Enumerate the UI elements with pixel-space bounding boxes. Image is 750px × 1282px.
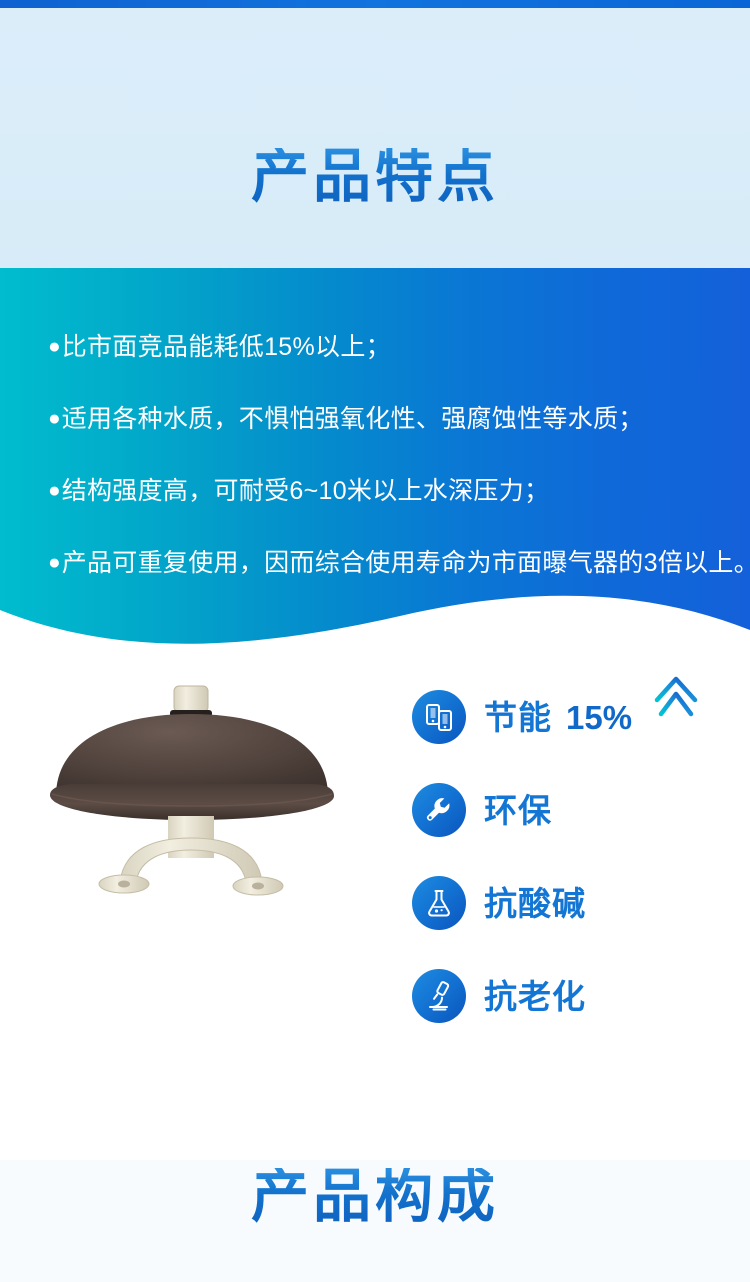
flask-icon xyxy=(412,876,466,930)
top-accent-bar xyxy=(0,0,750,8)
dome-aerator-illustration xyxy=(20,668,380,908)
feature-value-percent: 15% xyxy=(566,701,632,734)
bullet-text: 结构强度高，可耐受6~10米以上水深压力； xyxy=(62,476,550,506)
bullet-text: 适用各种水质，不惧怕强氧化性、强腐蚀性等水质； xyxy=(62,404,644,434)
feature-row-anti-aging[interactable]: 抗老化 xyxy=(412,967,742,1025)
feature-highlight-list: 节能 15% xyxy=(412,688,742,1060)
wrench-icon xyxy=(412,783,466,837)
bullet-dot-icon: ● xyxy=(48,404,61,434)
feature-label: 环保 xyxy=(484,794,552,827)
page-title: 产品特点 xyxy=(0,148,750,206)
feature-row-eco-friendly[interactable]: 环保 xyxy=(412,781,742,839)
feature-row-energy-saving[interactable]: 节能 15% xyxy=(412,688,742,746)
bullet-text: 比市面竞品能耗低15%以上； xyxy=(62,332,391,362)
product-feature-page: 产品特点 ● 比市面竞品能耗低15%以上； ● 适用各种水质，不惧怕强氧化性、强… xyxy=(0,0,750,1282)
list-item: ● 结构强度高，可耐受6~10米以上水深压力； xyxy=(48,476,718,506)
feature-label: 节能 xyxy=(484,701,552,734)
list-item: ● 比市面竞品能耗低15%以上； xyxy=(48,332,718,362)
wave-divider xyxy=(0,558,750,668)
mobile-devices-icon xyxy=(412,690,466,744)
microscope-icon xyxy=(412,969,466,1023)
product-photo xyxy=(20,668,380,908)
footer-title: 产品构成 xyxy=(0,1168,750,1226)
header-band xyxy=(0,8,750,268)
bullet-dot-icon: ● xyxy=(48,332,61,362)
feature-label: 抗老化 xyxy=(484,980,586,1013)
feature-bullet-block: ● 比市面竞品能耗低15%以上； ● 适用各种水质，不惧怕强氧化性、强腐蚀性等水… xyxy=(0,268,750,668)
list-item: ● 适用各种水质，不惧怕强氧化性、强腐蚀性等水质； xyxy=(48,404,718,434)
double-chevron-up-arrow-icon xyxy=(652,670,700,750)
bullet-dot-icon: ● xyxy=(48,476,61,506)
feature-row-acid-alkali-resistant[interactable]: 抗酸碱 xyxy=(412,874,742,932)
feature-label: 抗酸碱 xyxy=(484,887,586,920)
